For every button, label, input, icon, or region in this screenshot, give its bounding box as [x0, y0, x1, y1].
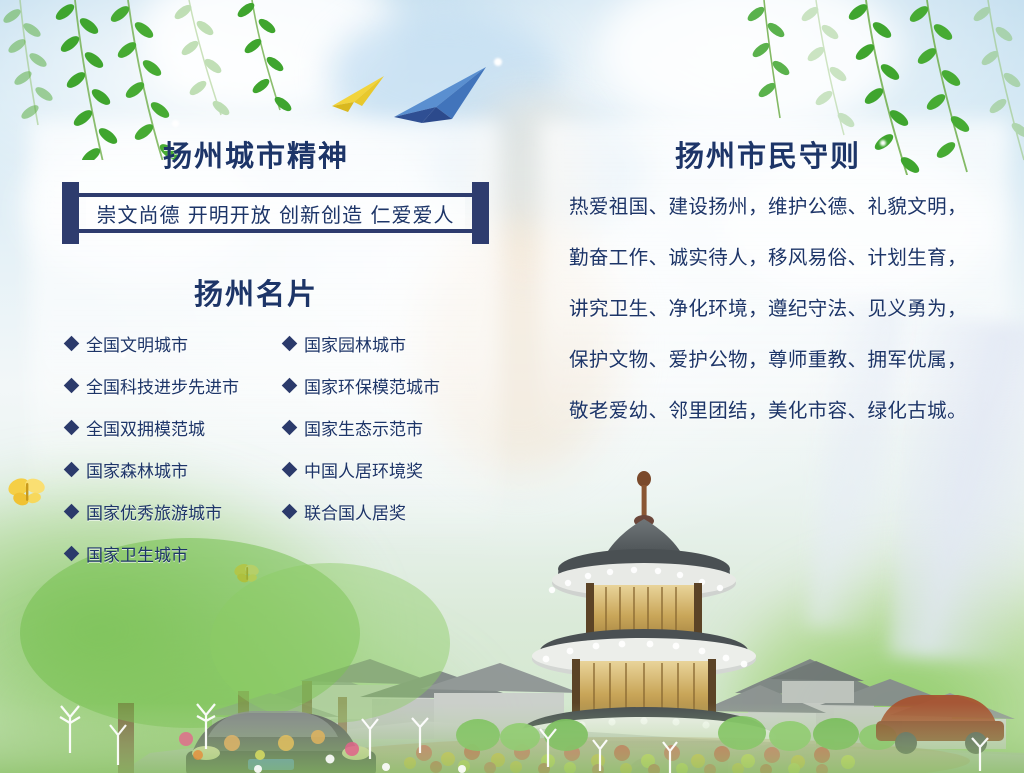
card-item: 国家园林城市 [284, 322, 476, 364]
card-item-label: 国家优秀旅游城市 [86, 499, 222, 524]
card-item-label: 国家园林城市 [304, 331, 406, 356]
poster-canvas: 扬州城市精神 崇文尚德 开明开放 创新创造 仁爱爱人 扬州名片 全国文明城市 国… [0, 0, 1024, 773]
diamond-bullet-icon [282, 377, 298, 393]
code-line: 敬老爱幼、邻里团结，美化市容、绿化古城。 [526, 394, 1010, 423]
city-spirit-slogan: 崇文尚德 开明开放 创新创造 仁爱爱人 [96, 199, 454, 228]
card-item-label: 国家森林城市 [86, 457, 188, 482]
card-item-label: 国家环保模范城市 [304, 373, 440, 398]
banner-bottom-rule [79, 229, 472, 233]
right-content-column: 扬州市民守则 热爱祖国、建设扬州，维护公德、礼貌文明， 勤奋工作、诚实待人，移风… [512, 0, 1024, 773]
card-item-label: 国家卫生城市 [86, 541, 188, 566]
diamond-bullet-icon [64, 335, 80, 351]
diamond-bullet-icon [282, 335, 298, 351]
card-item-label: 联合国人居奖 [304, 499, 406, 524]
card-item: 全国科技进步先进市 [66, 364, 284, 406]
card-item-label: 全国科技进步先进市 [86, 373, 239, 398]
city-cards-title: 扬州名片 [0, 271, 512, 313]
diamond-bullet-icon [282, 503, 298, 519]
city-spirit-title: 扬州城市精神 [0, 133, 512, 175]
card-item-empty [284, 532, 476, 574]
left-content-column: 扬州城市精神 崇文尚德 开明开放 创新创造 仁爱爱人 扬州名片 全国文明城市 国… [0, 0, 512, 773]
code-line: 讲究卫生、净化环境，遵纪守法、见义勇为， [526, 292, 1010, 321]
code-line: 勤奋工作、诚实待人，移风易俗、计划生育， [526, 241, 1010, 270]
card-item-label: 中国人居环境奖 [304, 457, 423, 482]
diamond-bullet-icon [64, 461, 80, 477]
city-spirit-banner: 崇文尚德 开明开放 创新创造 仁爱爱人 [62, 182, 489, 244]
card-item-label: 国家生态示范市 [304, 415, 423, 440]
code-line: 保护文物、爱护公物，尊师重教、拥军优属， [526, 343, 1010, 372]
card-item-label: 全国文明城市 [86, 331, 188, 356]
diamond-bullet-icon [282, 419, 298, 435]
diamond-bullet-icon [64, 419, 80, 435]
city-cards-grid: 全国文明城市 国家园林城市 全国科技进步先进市 国家环保模范城市 全国双拥模范城… [66, 322, 476, 574]
diamond-bullet-icon [64, 377, 80, 393]
banner-right-edge [472, 182, 489, 244]
card-item: 国家环保模范城市 [284, 364, 476, 406]
card-item-label: 全国双拥模范城 [86, 415, 205, 440]
card-item: 国家生态示范市 [284, 406, 476, 448]
card-item: 国家优秀旅游城市 [66, 490, 284, 532]
code-line: 热爱祖国、建设扬州，维护公德、礼貌文明， [526, 190, 1010, 219]
banner-left-edge [62, 182, 79, 244]
card-item: 全国双拥模范城 [66, 406, 284, 448]
card-item: 中国人居环境奖 [284, 448, 476, 490]
card-item: 全国文明城市 [66, 322, 284, 364]
diamond-bullet-icon [282, 461, 298, 477]
card-item: 国家森林城市 [66, 448, 284, 490]
card-item: 国家卫生城市 [66, 532, 284, 574]
citizen-code-lines: 热爱祖国、建设扬州，维护公德、礼貌文明， 勤奋工作、诚实待人，移风易俗、计划生育… [526, 190, 1010, 445]
diamond-bullet-icon [64, 503, 80, 519]
card-item: 联合国人居奖 [284, 490, 476, 532]
banner-inner: 崇文尚德 开明开放 创新创造 仁爱爱人 [86, 197, 465, 229]
diamond-bullet-icon [64, 545, 80, 561]
citizen-code-title: 扬州市民守则 [512, 133, 1024, 175]
